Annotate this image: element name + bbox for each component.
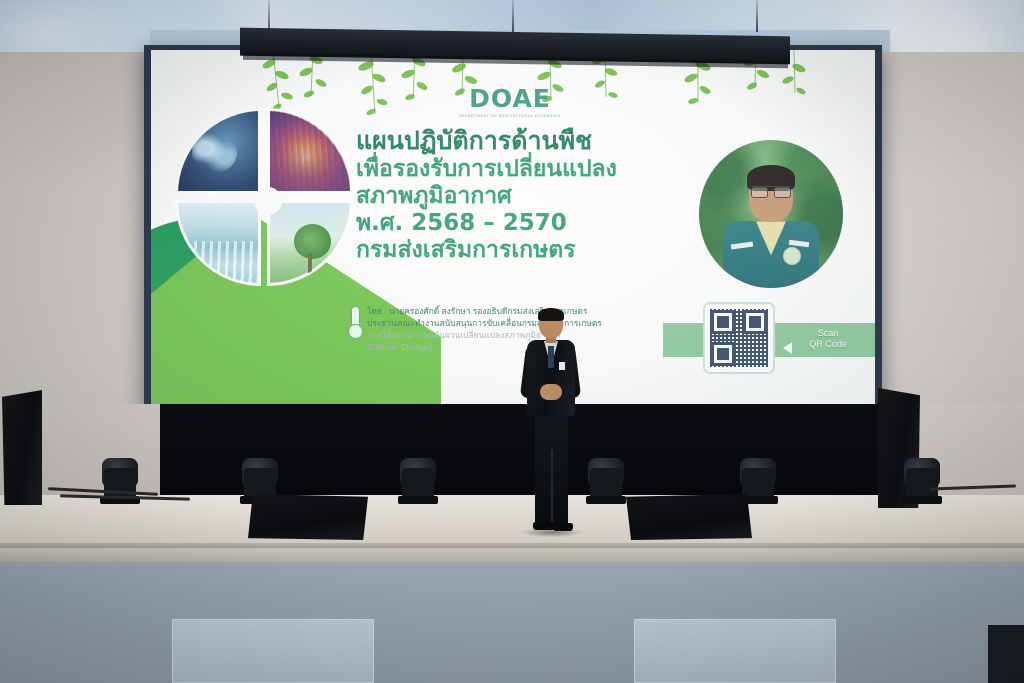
moving-head-base — [586, 496, 626, 504]
presentation-slide: DOAE DEPARTMENT OF AGRICULTURAL EXTENSIO… — [151, 50, 875, 422]
tree-crown-icon — [294, 224, 331, 259]
moving-head-light-6 — [898, 450, 946, 504]
presenter-hair — [538, 308, 564, 321]
headline-line-4: พ.ศ. 2568 – 2570 — [356, 210, 756, 237]
collage-wildfire-image — [267, 108, 353, 194]
portrait-vest-emblem — [783, 247, 801, 265]
presenter-leg-split — [551, 450, 553, 522]
collage-tree-image — [267, 200, 353, 286]
conference-stage-photo: DOAE DEPARTMENT OF AGRICULTURAL EXTENSIO… — [0, 0, 1024, 683]
headline-line-2: เพื่อรองรับการเปลี่ยนแปลง — [356, 156, 756, 183]
headline-line-1: แผนปฏิบัติการด้านพืช — [356, 126, 756, 156]
doae-logo: DOAE DEPARTMENT OF AGRICULTURAL EXTENSIO… — [451, 86, 569, 118]
thermometer-icon — [347, 306, 363, 340]
projection-screen-frame: DOAE DEPARTMENT OF AGRICULTURAL EXTENSIO… — [144, 45, 882, 430]
moving-head-yoke — [402, 468, 434, 498]
qr-scan-label-line1: Scan — [793, 328, 863, 339]
presenter-name-badge — [559, 362, 565, 370]
collage-earth-image — [175, 108, 261, 194]
glasses-icon — [751, 186, 791, 197]
thermometer-bulb — [348, 324, 363, 339]
speaker-portrait — [699, 140, 843, 288]
qr-finder-top-left — [711, 310, 735, 334]
qr-finder-top-right — [743, 310, 767, 334]
portrait-vest-stripe-left — [731, 242, 753, 250]
qr-code-pattern — [710, 309, 768, 367]
doae-wordmark: DOAE — [451, 86, 569, 111]
wall-panel-right — [634, 619, 836, 683]
presenter-shoe-right — [553, 523, 573, 531]
truss-wire-right — [756, 0, 758, 32]
presenter-tie — [548, 346, 554, 368]
portrait-vest — [723, 221, 819, 288]
pa-speaker-left — [2, 390, 42, 505]
slide-headline: แผนปฏิบัติการด้านพืช เพื่อรองรับการเปลี่… — [356, 126, 756, 264]
left-arrow-icon — [783, 342, 792, 354]
lower-right-dark-corner — [988, 625, 1024, 683]
moving-head-base — [902, 496, 942, 504]
stage-apron-trim — [0, 548, 1024, 562]
moving-head-base — [398, 496, 438, 504]
presenter-shoe-left — [533, 522, 555, 530]
qr-scan-label: Scan QR Code — [793, 328, 863, 351]
headline-line-3: สภาพภูมิอากาศ — [356, 183, 756, 210]
house-wall — [0, 550, 1024, 683]
moving-head-yoke — [742, 468, 774, 498]
stage-floor — [0, 495, 1024, 550]
headline-line-5: กรมส่งเสริมการเกษตร — [356, 237, 756, 264]
moving-head-yoke — [590, 468, 622, 498]
moving-head-yoke — [244, 468, 276, 498]
stage-monitor-wedge-right — [626, 494, 752, 540]
collage-flood-image — [175, 200, 261, 286]
tree-trunk-icon — [308, 253, 312, 274]
moving-head-yoke — [906, 468, 938, 498]
climate-collage — [175, 108, 361, 294]
qr-scan-label-line2: QR Code — [793, 339, 863, 350]
moving-head-light-4 — [582, 452, 630, 504]
presenter — [515, 310, 587, 538]
presenter-hands — [540, 384, 562, 400]
collage-center-gap — [254, 187, 282, 215]
truss-wire-mid — [512, 0, 514, 34]
qr-code[interactable] — [703, 302, 775, 374]
stage-monitor-wedge-left — [248, 494, 368, 540]
wall-panel-left — [172, 619, 374, 683]
qr-finder-bottom-left — [711, 342, 735, 366]
portrait-vest-collar — [756, 221, 786, 255]
moving-head-light-3 — [394, 452, 442, 504]
doae-tagline: DEPARTMENT OF AGRICULTURAL EXTENSION — [451, 114, 569, 118]
